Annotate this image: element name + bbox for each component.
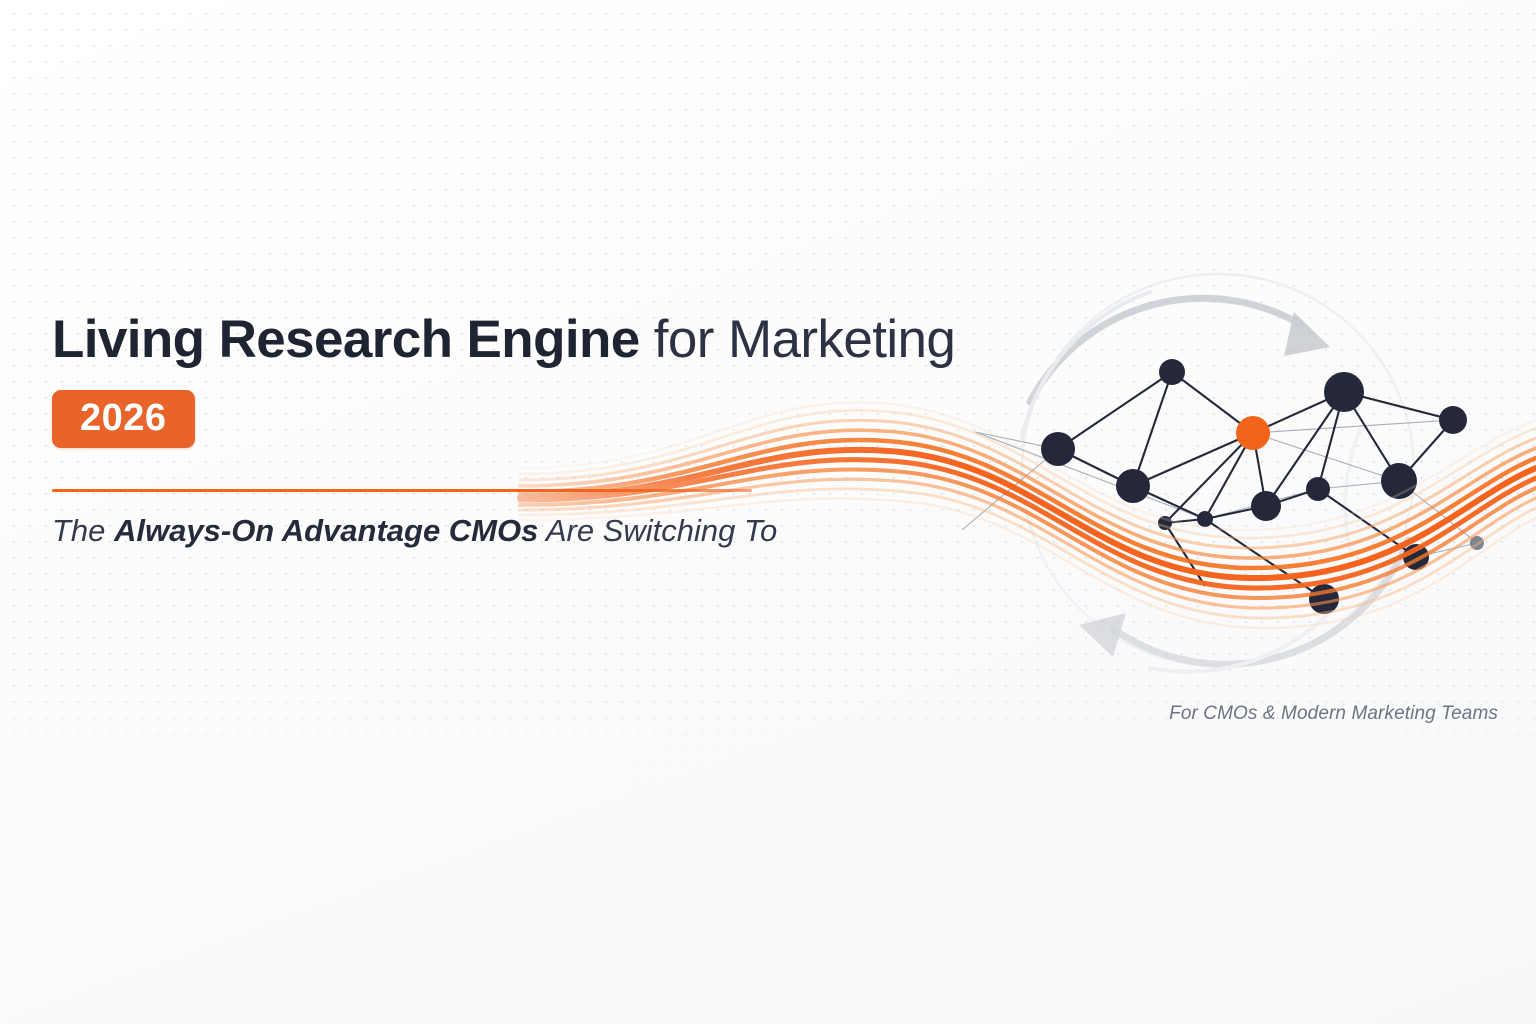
subtitle: The Always-On Advantage CMOs Are Switchi… — [52, 512, 777, 551]
network-node — [1381, 463, 1417, 499]
network-graph-group — [962, 359, 1484, 614]
cycle-arrowhead-bottom-left — [1079, 613, 1126, 657]
network-node — [1309, 584, 1339, 614]
network-node — [1197, 511, 1213, 527]
network-node-hub — [1236, 416, 1270, 450]
accent-divider-rule — [52, 489, 752, 492]
page-title: Living Research Engine for Marketing — [52, 312, 1032, 368]
network-node — [1470, 536, 1484, 550]
cycle-arrowhead-top-right — [1284, 312, 1330, 356]
network-node — [1324, 372, 1364, 412]
year-badge: 2026 — [52, 390, 195, 448]
subtitle-tail: Are Switching To — [538, 513, 777, 548]
subtitle-lead: The — [52, 513, 114, 548]
network-node — [1041, 432, 1075, 466]
network-node — [1403, 544, 1429, 570]
network-edges-light — [962, 420, 1477, 557]
cycle-arc-top — [1030, 298, 1300, 402]
network-node — [1306, 477, 1330, 501]
network-node — [1116, 469, 1150, 503]
subtitle-strong: Always-On Advantage CMOs — [114, 513, 538, 548]
network-edges-dark — [1058, 372, 1453, 599]
headline-light: for Marketing — [640, 310, 956, 369]
network-node — [1158, 516, 1172, 530]
audience-note: For CMOs & Modern Marketing Teams — [1169, 703, 1498, 725]
cycle-arrows-group — [1022, 274, 1414, 672]
network-nodes — [1041, 359, 1484, 614]
cycle-arc-bottom — [1112, 540, 1408, 664]
network-node — [1159, 359, 1185, 385]
headline-strong: Living Research Engine — [52, 310, 640, 369]
network-node — [1439, 406, 1467, 434]
network-node — [1251, 491, 1281, 521]
hero-text-block: Living Research Engine for Marketing 202… — [52, 312, 1032, 448]
slide-canvas: Living Research Engine for Marketing 202… — [0, 0, 1536, 1024]
